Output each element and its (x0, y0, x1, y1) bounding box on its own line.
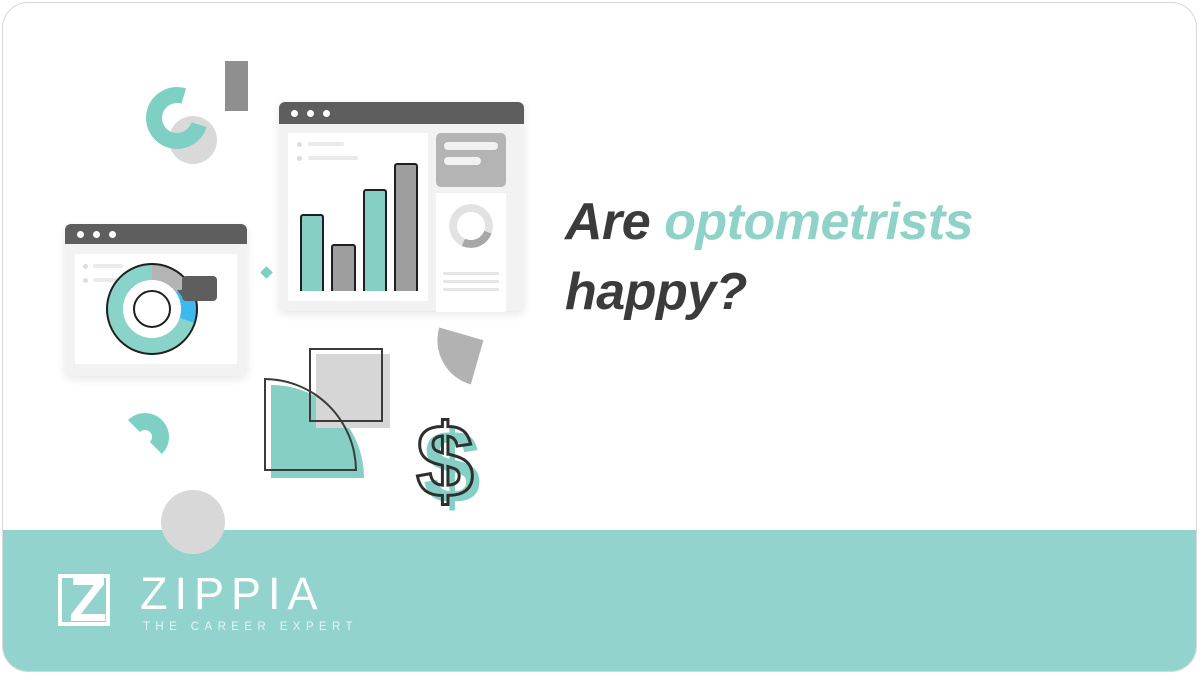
mini-donut-chart (449, 204, 493, 248)
window-title-bar (279, 102, 524, 124)
mini-donut-card (436, 193, 506, 312)
logo-text-block: ZIPPIA THE CAREER EXPERT (140, 569, 358, 634)
window-dot-icon (323, 110, 330, 117)
dollar-sign-icon: $ $ (416, 407, 496, 517)
placeholder-line (443, 272, 499, 275)
window-dot-icon (109, 231, 116, 238)
placeholder-line (443, 280, 499, 283)
chart-bar (300, 214, 324, 291)
gray-wedge-icon (427, 328, 484, 385)
window-dot-icon (77, 231, 84, 238)
window-body (65, 244, 247, 374)
donut-panel (75, 254, 237, 364)
gray-bar-accent (225, 61, 248, 111)
legend-placeholder-line (308, 142, 344, 146)
legend-dot-icon (297, 142, 302, 147)
headline-prefix: Are (565, 193, 664, 251)
bar-chart-window (279, 102, 524, 311)
donut-tooltip (182, 276, 217, 301)
chart-bar (331, 244, 355, 291)
placeholder-pill (444, 157, 481, 165)
window-title-bar (65, 224, 247, 244)
logo-letter: Z (56, 568, 118, 634)
dollar-sign-outline: $ (416, 407, 474, 517)
legend-dot-icon (83, 264, 88, 269)
logo-wordmark: ZIPPIA (140, 571, 358, 617)
gray-circle-large (161, 490, 225, 554)
zippia-logo[interactable]: Z ZIPPIA THE CAREER EXPERT (56, 569, 358, 634)
donut-inner-outline (133, 290, 171, 328)
zippia-logo-mark-icon: Z (56, 571, 118, 633)
summary-card (436, 133, 506, 187)
headline-line2: happy? (565, 263, 747, 321)
legend-placeholder-line (308, 156, 358, 160)
teal-diamond-icon (260, 266, 273, 279)
donut-chart-window (65, 224, 247, 376)
logo-tagline: THE CAREER EXPERT (143, 620, 358, 634)
chart-bar (394, 163, 418, 291)
placeholder-pill (444, 142, 498, 150)
side-panel (436, 133, 506, 312)
promo-card: $ $ Are optometrists happy? Z ZIPPIA THE… (2, 2, 1197, 672)
bar-chart-panel (288, 133, 428, 301)
legend-dot-icon (83, 278, 88, 283)
window-dot-icon (93, 231, 100, 238)
placeholder-line (443, 288, 499, 291)
page-title: Are optometrists happy? (565, 187, 1125, 327)
bar-group (300, 163, 418, 291)
chart-bar (363, 189, 387, 291)
placeholder-lines (443, 272, 499, 296)
window-dot-icon (307, 110, 314, 117)
window-dot-icon (291, 110, 298, 117)
headline-accent: optometrists (664, 193, 973, 251)
teal-quarter-arc-icon (121, 413, 169, 461)
window-body (279, 124, 524, 321)
legend-dot-icon (297, 156, 302, 161)
